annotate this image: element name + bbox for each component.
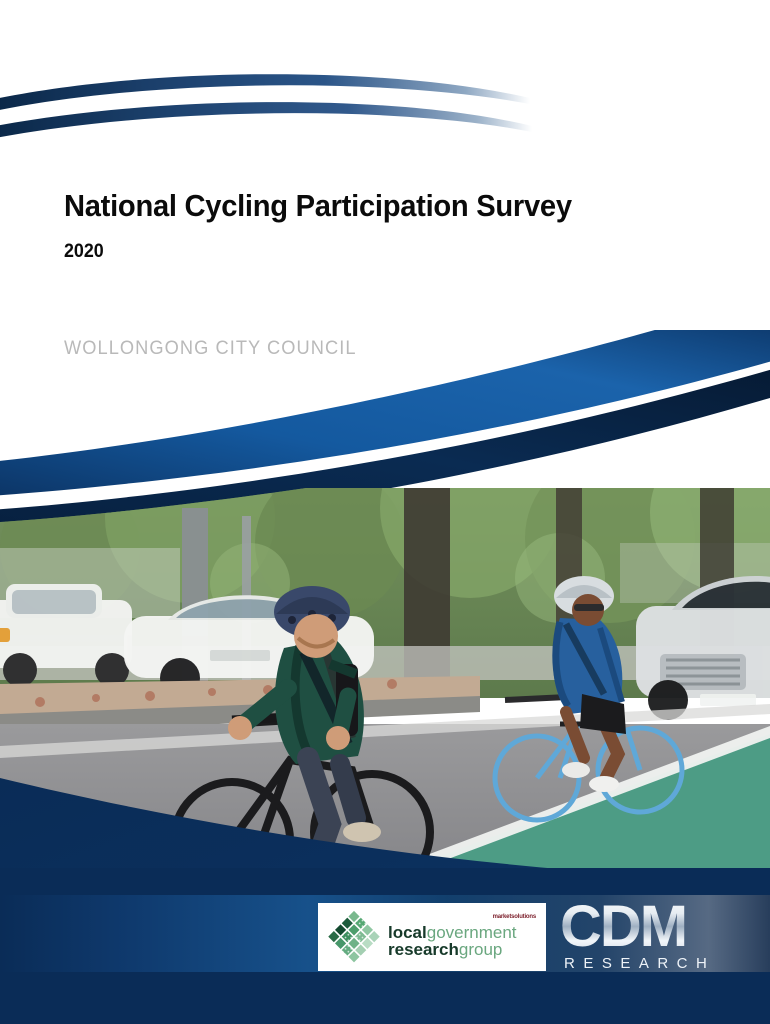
swoosh-stroke-lower bbox=[0, 102, 532, 139]
lgrg-logo: marketsolutions localgovernment research… bbox=[318, 903, 546, 971]
lgrg-wordmark: marketsolutions localgovernment research… bbox=[388, 915, 538, 959]
lgrg-line-two: researchgroup bbox=[388, 941, 538, 959]
cdm-wordmark-svg: CDM RESEARCH bbox=[560, 898, 760, 976]
lgrg-tagline: marketsolutions bbox=[493, 914, 536, 920]
lgrg-group: group bbox=[459, 940, 502, 959]
report-year: 2020 bbox=[64, 241, 440, 263]
cover-page: National Cycling Participation Survey 20… bbox=[0, 0, 770, 1024]
lgrg-research: research bbox=[388, 940, 459, 959]
diamond-grid-svg bbox=[326, 909, 382, 965]
cdm-letters: CDM bbox=[560, 898, 686, 959]
cdm-research-logo: CDM RESEARCH bbox=[560, 898, 760, 976]
top-swoosh-decoration bbox=[0, 60, 770, 170]
page-title: National Cycling Participation Survey bbox=[64, 188, 684, 224]
swoosh-svg bbox=[0, 60, 770, 170]
green-diamond-grid-icon bbox=[326, 909, 382, 965]
cdm-subtitle: RESEARCH bbox=[564, 955, 715, 972]
lgrg-line-one: localgovernment bbox=[388, 924, 538, 941]
